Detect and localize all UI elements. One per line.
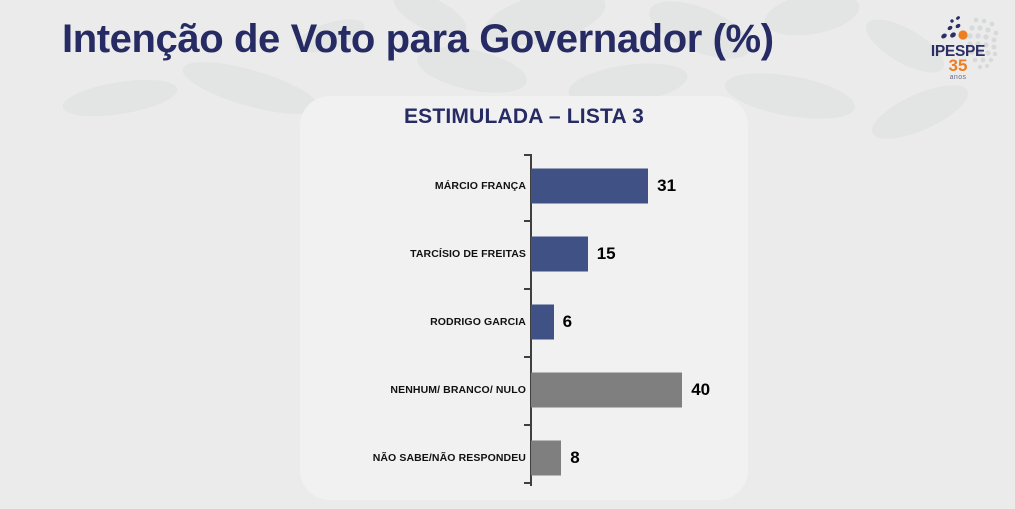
bar-value-label: 31: [657, 176, 676, 196]
bar: [531, 169, 648, 204]
category-label: RODRIGO GARCIA: [430, 316, 526, 328]
bar-row: RODRIGO GARCIA6: [300, 288, 748, 356]
category-label: MÁRCIO FRANÇA: [435, 180, 526, 192]
bar-chart-plot: MÁRCIO FRANÇA31TARCÍSIO DE FREITAS15RODR…: [300, 96, 748, 500]
bar: [531, 373, 682, 408]
chart-card: ESTIMULADA – LISTA 3 MÁRCIO FRANÇA31TARC…: [300, 96, 748, 500]
ipespe-logo: IPESPE 35 anos: [924, 8, 1002, 90]
category-label: NENHUM/ BRANCO/ NULO: [390, 384, 526, 396]
axis-tick: [524, 356, 530, 358]
bar-value-label: 40: [691, 380, 710, 400]
axis-tick: [524, 288, 530, 290]
bar: [531, 441, 561, 476]
bar-row: NENHUM/ BRANCO/ NULO40: [300, 356, 748, 424]
bar: [531, 237, 588, 272]
bar-value-label: 15: [597, 244, 616, 264]
bar-value-label: 8: [570, 448, 579, 468]
axis-cap-bottom: [524, 482, 531, 484]
logo-years: 35: [926, 58, 990, 74]
bar-value-label: 6: [563, 312, 572, 332]
bar-row: MÁRCIO FRANÇA31: [300, 152, 748, 220]
page-title: Intenção de Voto para Governador (%): [62, 17, 774, 62]
axis-tick: [524, 424, 530, 426]
logo-years-caption: anos: [926, 74, 990, 82]
category-label: NÃO SABE/NÃO RESPONDEU: [373, 452, 526, 464]
page-header: Intenção de Voto para Governador (%): [0, 0, 1015, 96]
axis-cap-top: [524, 154, 531, 156]
bar-row: TARCÍSIO DE FREITAS15: [300, 220, 748, 288]
axis-tick: [524, 220, 530, 222]
category-label: TARCÍSIO DE FREITAS: [410, 248, 526, 260]
logo-text-block: IPESPE 35 anos: [926, 44, 990, 82]
bar: [531, 305, 554, 340]
